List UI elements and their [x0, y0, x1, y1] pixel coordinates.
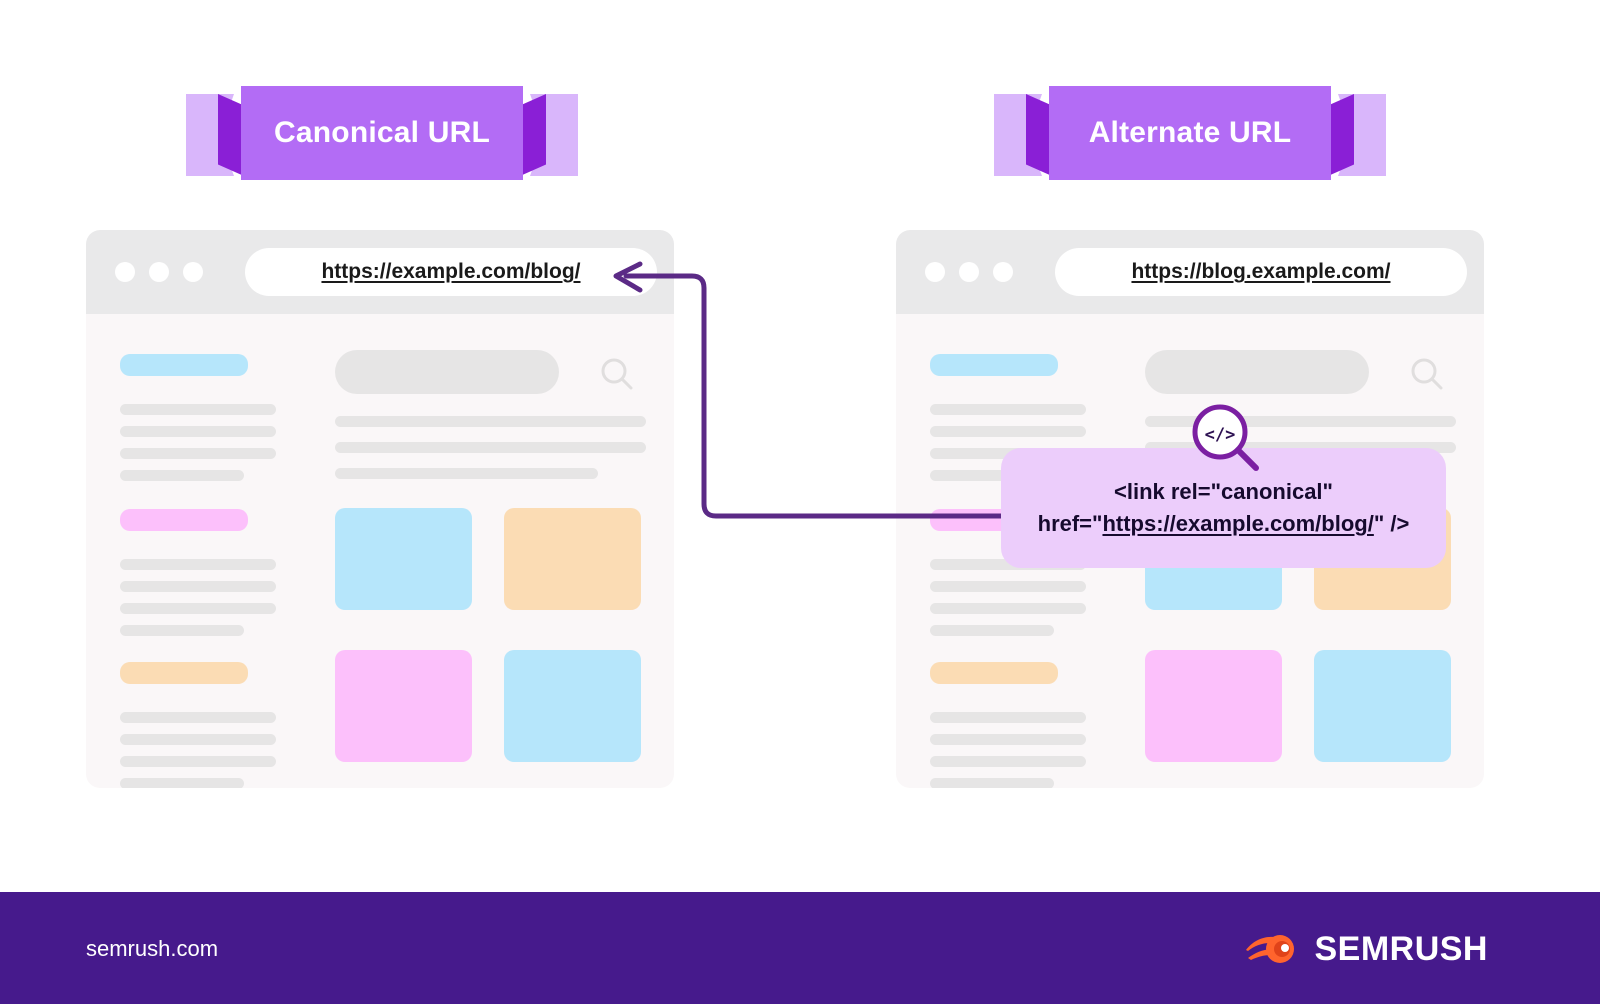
- wireframe-tile-blue: [504, 650, 641, 762]
- window-controls[interactable]: [925, 262, 1013, 282]
- wireframe-bar: [930, 426, 1086, 437]
- wireframe-bar: [120, 778, 244, 788]
- wireframe-bar: [120, 448, 276, 459]
- wireframe-pill-orange: [930, 662, 1058, 684]
- wireframe-bar: [120, 404, 276, 415]
- wireframe-tile-orange: [504, 508, 641, 610]
- footer-bar: semrush.com SEMRUSH: [0, 892, 1600, 1004]
- address-bar[interactable]: https://example.com/blog/: [245, 248, 657, 296]
- wireframe-tile-pink: [335, 650, 472, 762]
- address-bar-url: https://blog.example.com/: [1131, 260, 1390, 284]
- wireframe-search-field[interactable]: [1145, 350, 1369, 394]
- footer-site-label: semrush.com: [86, 936, 218, 962]
- canonical-browser-window: https://example.com/blog/: [86, 230, 674, 788]
- wireframe-bar: [120, 625, 244, 636]
- window-dot-icon[interactable]: [149, 262, 169, 282]
- banner-label: Alternate URL: [1089, 116, 1292, 150]
- semrush-wordmark: SEMRUSH: [1314, 930, 1488, 969]
- ribbon-fold-right-icon: [520, 94, 546, 176]
- ribbon-fold-right-icon: [1328, 94, 1354, 176]
- address-bar-url: https://example.com/blog/: [321, 260, 580, 284]
- wireframe-bar: [930, 712, 1086, 723]
- wireframe-bar: [335, 468, 598, 479]
- code-line-2: href="https://example.com/blog/" />: [1038, 508, 1410, 540]
- wireframe-bar: [120, 470, 244, 481]
- wireframe-pill-blue: [930, 354, 1058, 376]
- wireframe-bar: [120, 559, 276, 570]
- browser-chrome: https://example.com/blog/: [86, 230, 674, 314]
- infographic-canvas: Canonical URL Alternate URL https://exam…: [0, 0, 1600, 1004]
- code-magnifier-icon: </>: [1190, 402, 1262, 474]
- wireframe-bar: [120, 581, 276, 592]
- banner-alternate-url: Alternate URL: [994, 86, 1386, 184]
- window-dot-icon[interactable]: [115, 262, 135, 282]
- banner-label: Canonical URL: [274, 116, 490, 150]
- window-dot-icon[interactable]: [959, 262, 979, 282]
- wireframe-bar: [930, 625, 1054, 636]
- semrush-logo: SEMRUSH: [1244, 928, 1488, 970]
- wireframe-bar: [120, 603, 276, 614]
- wireframe-bar: [930, 603, 1086, 614]
- wireframe-bar: [120, 734, 276, 745]
- search-icon[interactable]: [599, 356, 635, 397]
- wireframe-bar: [930, 778, 1054, 788]
- wireframe-bar: [335, 442, 646, 453]
- code-href-url[interactable]: https://example.com/blog/: [1102, 511, 1373, 536]
- wireframe-bar: [930, 756, 1086, 767]
- wireframe-tile-blue: [335, 508, 472, 610]
- wireframe-bar: [120, 756, 276, 767]
- wireframe-bar: [930, 581, 1086, 592]
- window-dot-icon[interactable]: [993, 262, 1013, 282]
- search-icon[interactable]: [1409, 356, 1445, 397]
- page-wireframe: [86, 314, 674, 788]
- semrush-comet-icon: [1244, 928, 1300, 970]
- wireframe-tile-pink: [1145, 650, 1282, 762]
- wireframe-tile-blue: [1314, 650, 1451, 762]
- wireframe-bar: [335, 416, 646, 427]
- wireframe-bar: [930, 404, 1086, 415]
- wireframe-bar: [120, 426, 276, 437]
- banner-body: Canonical URL: [241, 86, 523, 180]
- wireframe-pill-orange: [120, 662, 248, 684]
- wireframe-pill-blue: [120, 354, 248, 376]
- svg-text:</>: </>: [1205, 425, 1236, 445]
- wireframe-bar: [930, 734, 1086, 745]
- wireframe-search-field[interactable]: [335, 350, 559, 394]
- banner-canonical-url: Canonical URL: [186, 86, 578, 184]
- window-dot-icon[interactable]: [183, 262, 203, 282]
- code-href-prefix: href=": [1038, 511, 1103, 536]
- banner-body: Alternate URL: [1049, 86, 1331, 180]
- browser-chrome: https://blog.example.com/: [896, 230, 1484, 314]
- window-controls[interactable]: [115, 262, 203, 282]
- code-href-suffix: " />: [1374, 511, 1410, 536]
- wireframe-bar: [120, 712, 276, 723]
- code-line-1: <link rel="canonical": [1114, 476, 1333, 508]
- wireframe-pill-pink: [120, 509, 248, 531]
- address-bar[interactable]: https://blog.example.com/: [1055, 248, 1467, 296]
- window-dot-icon[interactable]: [925, 262, 945, 282]
